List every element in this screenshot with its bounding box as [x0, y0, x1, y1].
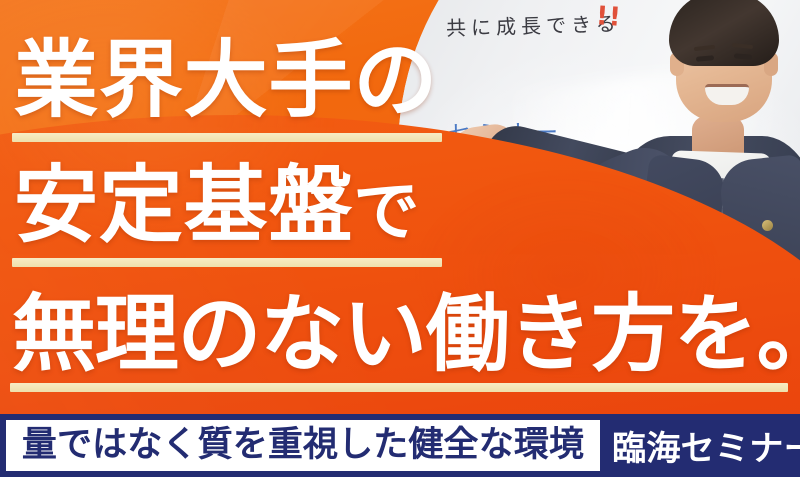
headline-block: 業界大手の 安定基盤で 無理のない働き方を。 [0, 0, 800, 477]
footer-tagline-text: 量ではなく質を重視した健全な環境 [22, 428, 584, 463]
headline-line-1: 業界大手の [14, 38, 438, 122]
footer-tagline-box: 量ではなく質を重視した健全な環境 [6, 420, 600, 471]
headline-underline-1 [12, 133, 442, 142]
headline-underline-3 [10, 383, 788, 392]
headline-line-3: 無理のない働き方を。 [12, 292, 800, 376]
recruitment-banner: 共に成長できる !! セミナー [0, 0, 800, 477]
headline-line-2: 安定基盤で [14, 163, 420, 247]
footer-bar: 量ではなく質を重視した健全な環境 臨海セミナー [0, 414, 800, 477]
headline-underline-2 [12, 258, 442, 267]
brand-name: 臨海セミナー [612, 414, 800, 477]
headline-line-2-main: 安定基盤 [14, 156, 353, 254]
headline-line-2-suffix: で [353, 173, 420, 250]
